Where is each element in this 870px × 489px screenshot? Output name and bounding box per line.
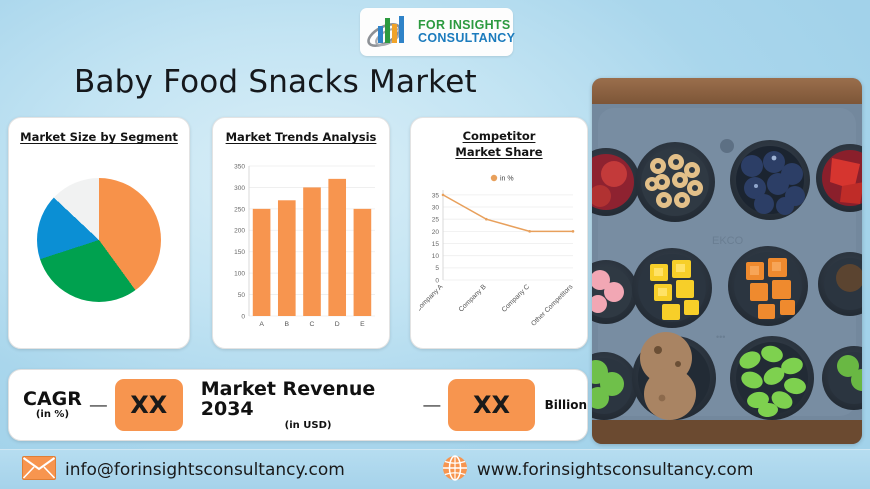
cagr-value-pill[interactable]: XX [115,379,183,431]
svg-text:30: 30 [432,204,440,211]
brand-logo[interactable]: FOR INSIGHTS CONSULTANCY [360,8,513,56]
dash-separator-1: — [90,395,107,415]
line-chart-svg: in %05101520253035Company ACompany BComp… [419,166,579,342]
svg-text:E: E [360,321,365,328]
svg-text:35: 35 [432,192,440,199]
email-text: info@forinsightsconsultancy.com [65,460,345,480]
svg-text:•••: ••• [716,332,725,342]
svg-text:300: 300 [234,185,245,192]
card-market-trends-analysis: Market Trends Analysis 05010015020025030… [212,117,390,349]
revenue-unit: (in USD) [285,421,332,432]
website-text: www.forinsightsconsultancy.com [477,460,754,480]
svg-text:200: 200 [234,228,245,235]
svg-text:25: 25 [432,217,440,224]
card-competitor-market-share: Competitor Market Share in %051015202530… [410,117,588,349]
svg-text:100: 100 [234,271,245,278]
svg-text:A: A [259,321,264,328]
website-contact[interactable]: www.forinsightsconsultancy.com [442,455,754,486]
muffin-tin-baby-snacks-photo: EKCO ••• [592,78,862,444]
svg-text:20: 20 [432,229,440,236]
svg-text:50: 50 [238,292,246,299]
pie-chart [37,178,161,302]
line-chart: in %05101520253035Company ACompany BComp… [419,166,579,342]
revenue-label: Market Revenue 2034 [201,379,416,420]
kpi-bar: CAGR (in %) — XX Market Revenue 2034 (in… [8,369,588,441]
slide-canvas: FOR INSIGHTS CONSULTANCY Baby Food Snack… [0,0,870,489]
svg-text:C: C [310,321,315,328]
globe-icon [442,455,468,486]
bar-chart-svg: 050100150200250300350ABCDE [223,160,379,338]
line-chart-title-line1: Competitor [463,129,536,143]
svg-text:5: 5 [435,265,439,272]
line-chart-title: Competitor Market Share [411,129,587,160]
email-contact[interactable]: info@forinsightsconsultancy.com [22,456,345,485]
dash-separator-2: — [423,395,440,415]
svg-text:150: 150 [234,249,245,256]
svg-text:250: 250 [234,206,245,213]
pie-chart-graphic [37,178,161,302]
card-market-size-by-segment: Market Size by Segment [8,117,190,349]
svg-text:Other Competitors: Other Competitors [530,283,575,328]
bar-chart: 050100150200250300350ABCDE [223,160,379,338]
revenue-value-pill[interactable]: XX [448,379,534,431]
line-chart-title-line2: Market Share [455,145,542,159]
envelope-icon [22,456,56,485]
logo-line1: FOR INSIGHTS [418,19,515,33]
svg-text:Company C: Company C [501,283,531,313]
cagr-unit: (in %) [36,410,69,421]
svg-text:10: 10 [432,253,440,260]
svg-text:0: 0 [241,313,245,320]
pie-chart-title: Market Size by Segment [9,130,189,146]
svg-text:D: D [335,321,340,328]
revenue-unit-billion: Billion [545,398,587,412]
svg-text:350: 350 [234,163,245,170]
bar-chart-title: Market Trends Analysis [213,130,389,146]
cagr-label: CAGR [23,389,82,410]
svg-text:Company B: Company B [458,283,488,313]
revenue-label-group: Market Revenue 2034 (in USD) [201,379,416,432]
svg-text:EKCO: EKCO [712,235,744,247]
logo-line2: CONSULTANCY [418,32,515,46]
svg-text:15: 15 [432,241,440,248]
bar-chart-swoosh-logo-icon [364,10,416,54]
svg-text:in %: in % [500,176,514,183]
cagr-label-group: CAGR (in %) [23,389,82,421]
footer-contact-bar: info@forinsightsconsultancy.com www.fori… [0,449,870,489]
page-title: Baby Food Snacks Market [74,64,477,100]
svg-text:B: B [285,321,290,328]
svg-text:Company A: Company A [419,283,445,313]
